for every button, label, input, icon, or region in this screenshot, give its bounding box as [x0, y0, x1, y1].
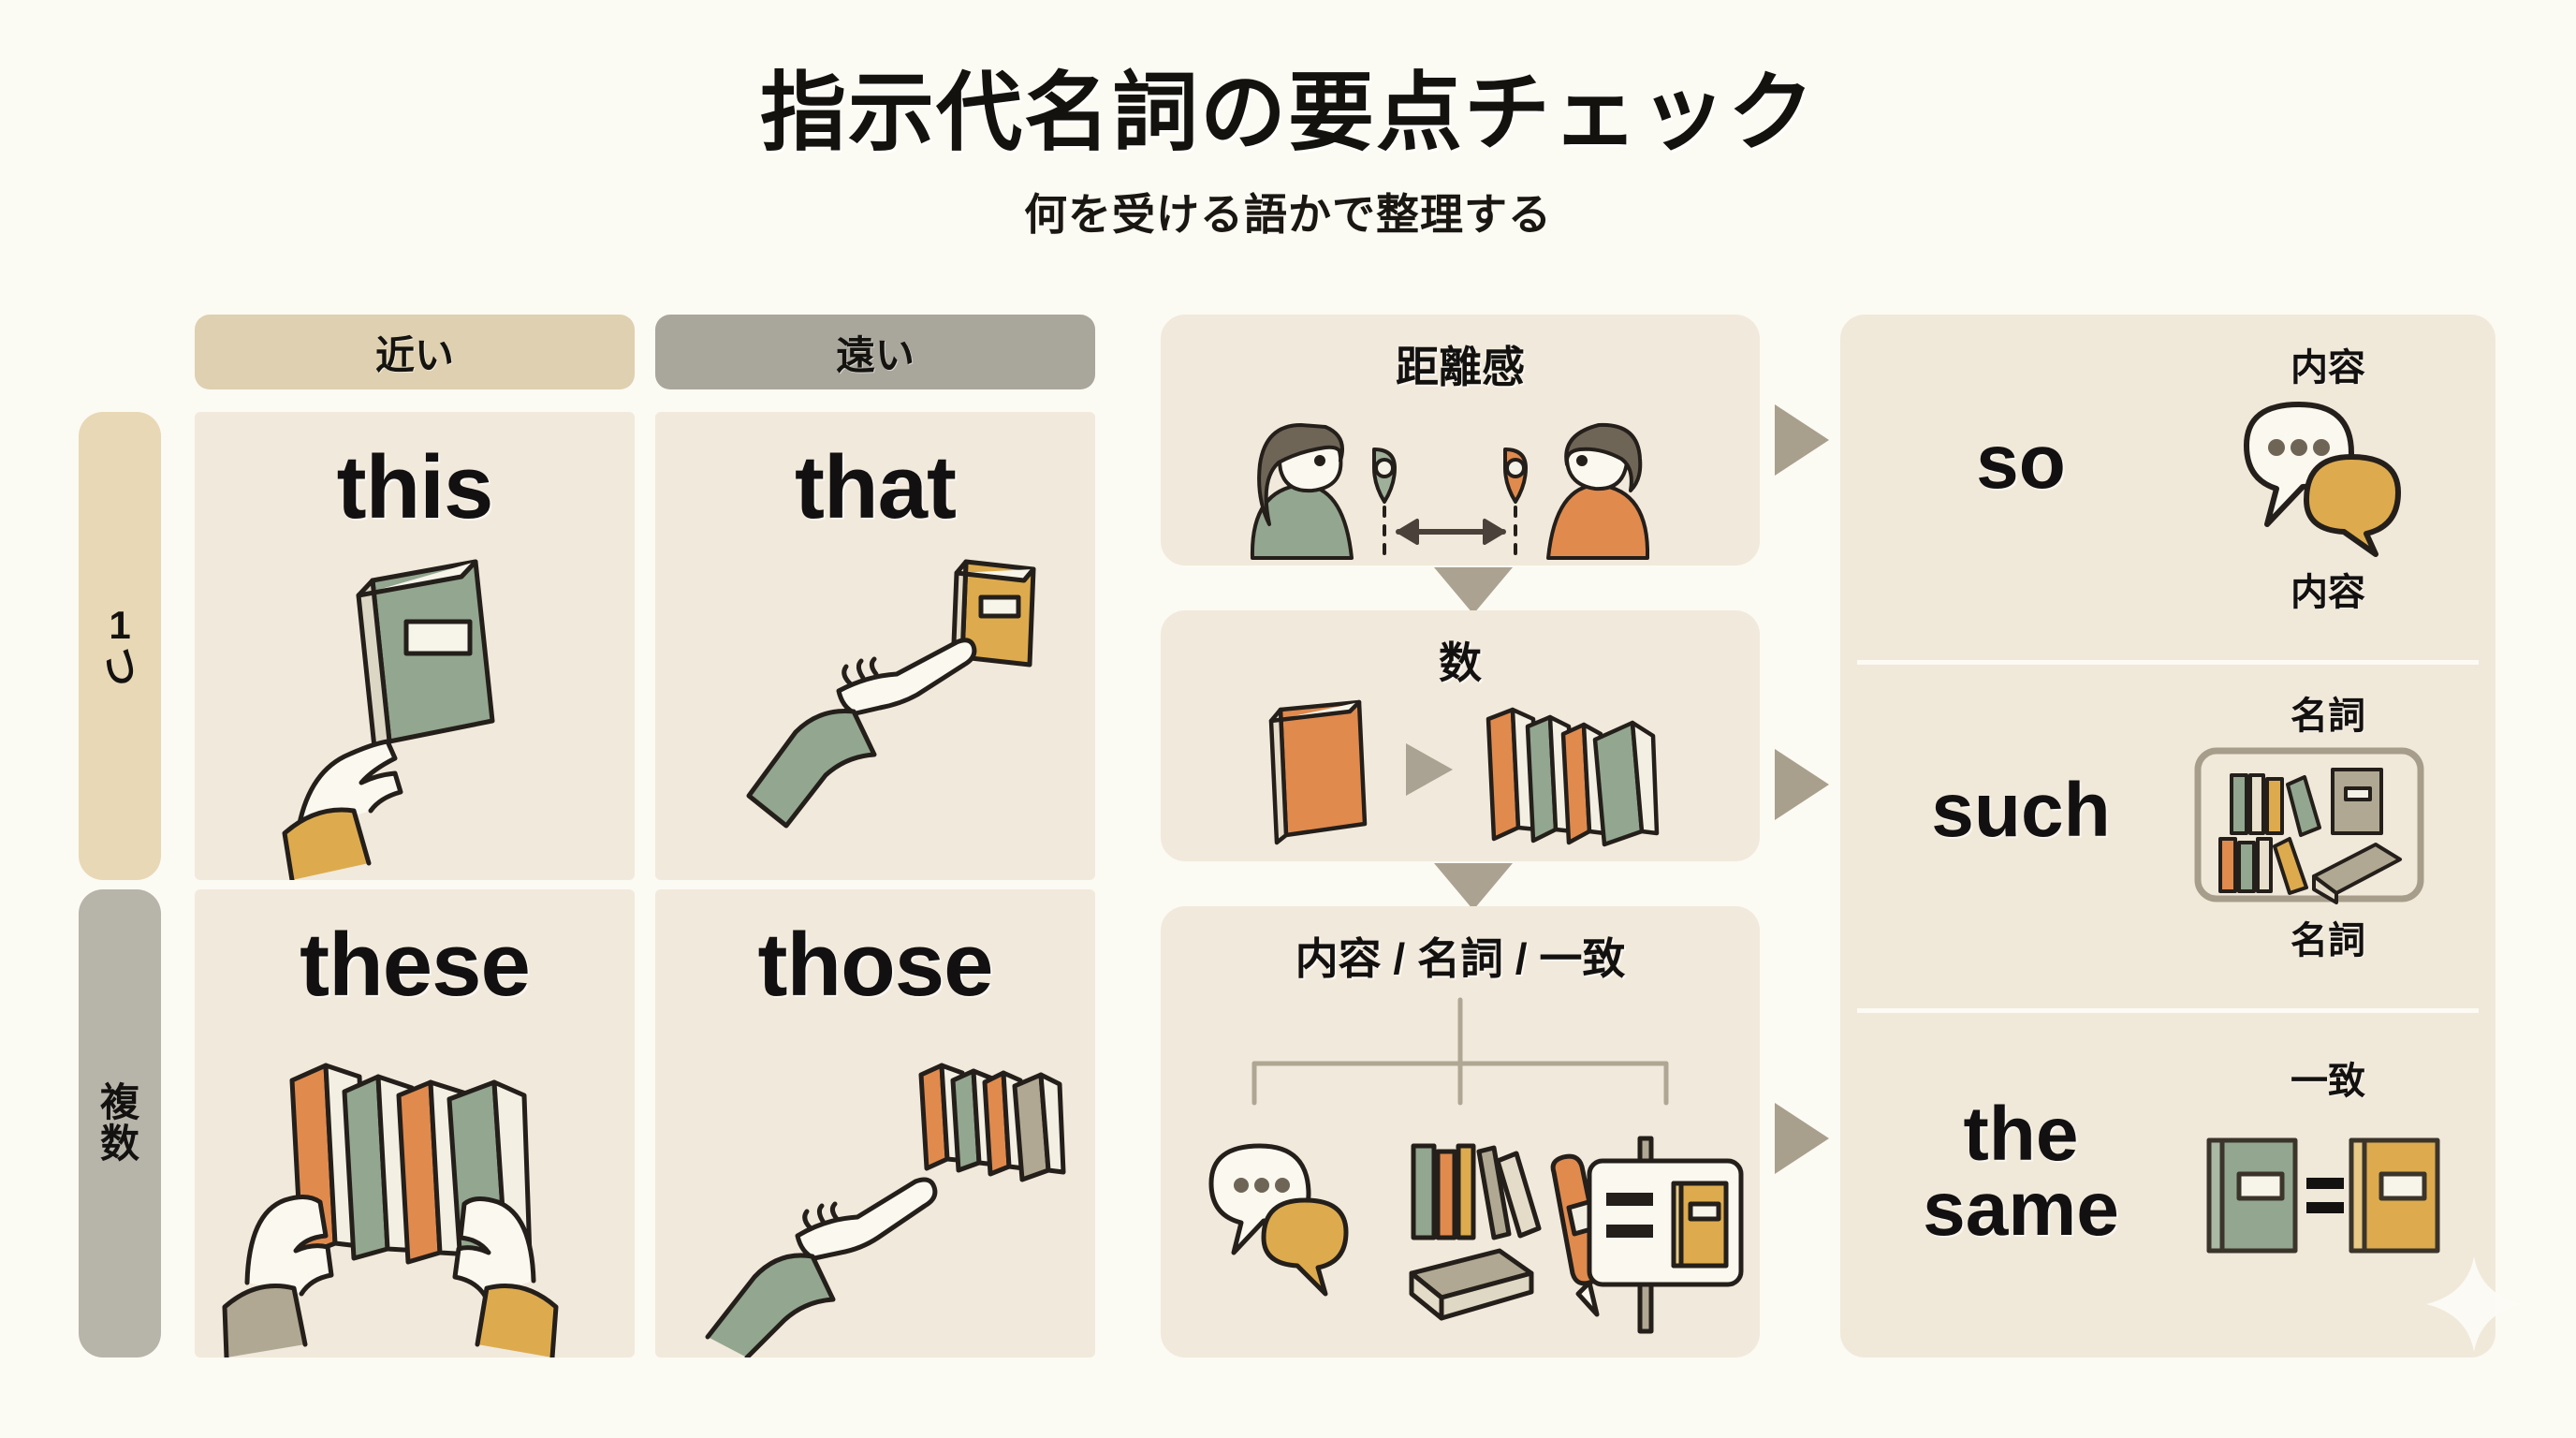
page-title: 指示代名詞の要点チェック [0, 43, 2576, 168]
row-header-singular: 1 つ [79, 412, 161, 880]
column-header-far: 遠い [655, 315, 1095, 389]
result-row-the-same[interactable]: the same 一致 [1840, 1011, 2495, 1357]
row-header-plural-char-1: 複 [100, 1082, 139, 1123]
flow-card-distance[interactable]: 距離感 [1161, 315, 1760, 565]
row-header-singular-char-2: つ [99, 647, 140, 686]
table-cell-this[interactable]: this [195, 412, 635, 880]
two-people-with-location-pins-distance-arrow-icon [1161, 393, 1760, 562]
result-word-line-2: same [1923, 1167, 2119, 1252]
flow-card-number[interactable]: 数 [1161, 610, 1760, 861]
bookshelf-box-icon [2192, 745, 2426, 904]
row-header-singular-char-1: 1 [109, 605, 130, 646]
result-word-so: so [1866, 425, 2175, 500]
speech-bubble-books-equals-sign-branch-icon [1161, 992, 1760, 1348]
page-subtitle: 何を受ける語かで整理する [0, 181, 2576, 242]
result-word-the-same: the same [1866, 1097, 2175, 1248]
column-header-near: 近い [195, 315, 635, 389]
result-tag-top-the-same: 一致 [2202, 1050, 2454, 1105]
flow-card-number-title: 数 [1161, 629, 1760, 691]
flow-card-types[interactable]: 内容 / 名詞 / 一致 [1161, 906, 1760, 1357]
row-header-plural: 複 数 [79, 889, 161, 1357]
result-word-such: such [1866, 773, 2175, 848]
flow-down-arrow-1 [1434, 567, 1513, 614]
flow-right-arrow-2 [1775, 749, 1829, 820]
hand-pointing-at-book-row-icon [655, 1002, 1095, 1357]
green-book-equals-yellow-book-icon [2202, 1129, 2445, 1260]
result-word-line-1: the [1964, 1092, 2079, 1177]
column-header-far-label: 遠い [836, 324, 915, 381]
hand-holding-green-book-icon [195, 524, 635, 880]
speech-bubbles-icon [2224, 395, 2430, 554]
flow-card-types-title: 内容 / 名詞 / 一致 [1161, 925, 1760, 987]
sparkle-decoration-icon [2422, 1253, 2525, 1356]
result-row-such[interactable]: such 名詞 [1840, 663, 2495, 1011]
result-tag-top-so: 内容 [2202, 337, 2454, 391]
infographic-canvas: 指示代名詞の要点チェック 何を受ける語かで整理する 近い 遠い 1 つ 複 数 … [0, 0, 2576, 1438]
flow-right-arrow-3 [1775, 1103, 1829, 1174]
flow-down-arrow-2 [1434, 863, 1513, 910]
table-cell-that[interactable]: that [655, 412, 1095, 880]
table-cell-those[interactable]: those [655, 889, 1095, 1357]
table-cell-these[interactable]: these [195, 889, 635, 1357]
column-header-near-label: 近い [375, 324, 454, 381]
one-book-arrow-many-books-icon [1161, 685, 1760, 854]
flow-right-arrow-1 [1775, 404, 1829, 476]
hand-pointing-at-yellow-book-icon [655, 524, 1095, 880]
result-tag-bottom-such: 名詞 [2202, 910, 2454, 964]
result-row-so[interactable]: so 内容 内容 [1840, 315, 2495, 663]
two-hands-holding-book-stack-icon [195, 1002, 635, 1357]
result-tag-top-such: 名詞 [2202, 685, 2454, 740]
result-tag-bottom-so: 内容 [2202, 562, 2454, 616]
row-header-plural-char-2: 数 [100, 1123, 139, 1165]
result-panel: so 内容 内容 such 名詞 [1840, 315, 2495, 1357]
flow-card-distance-title: 距離感 [1161, 333, 1760, 395]
